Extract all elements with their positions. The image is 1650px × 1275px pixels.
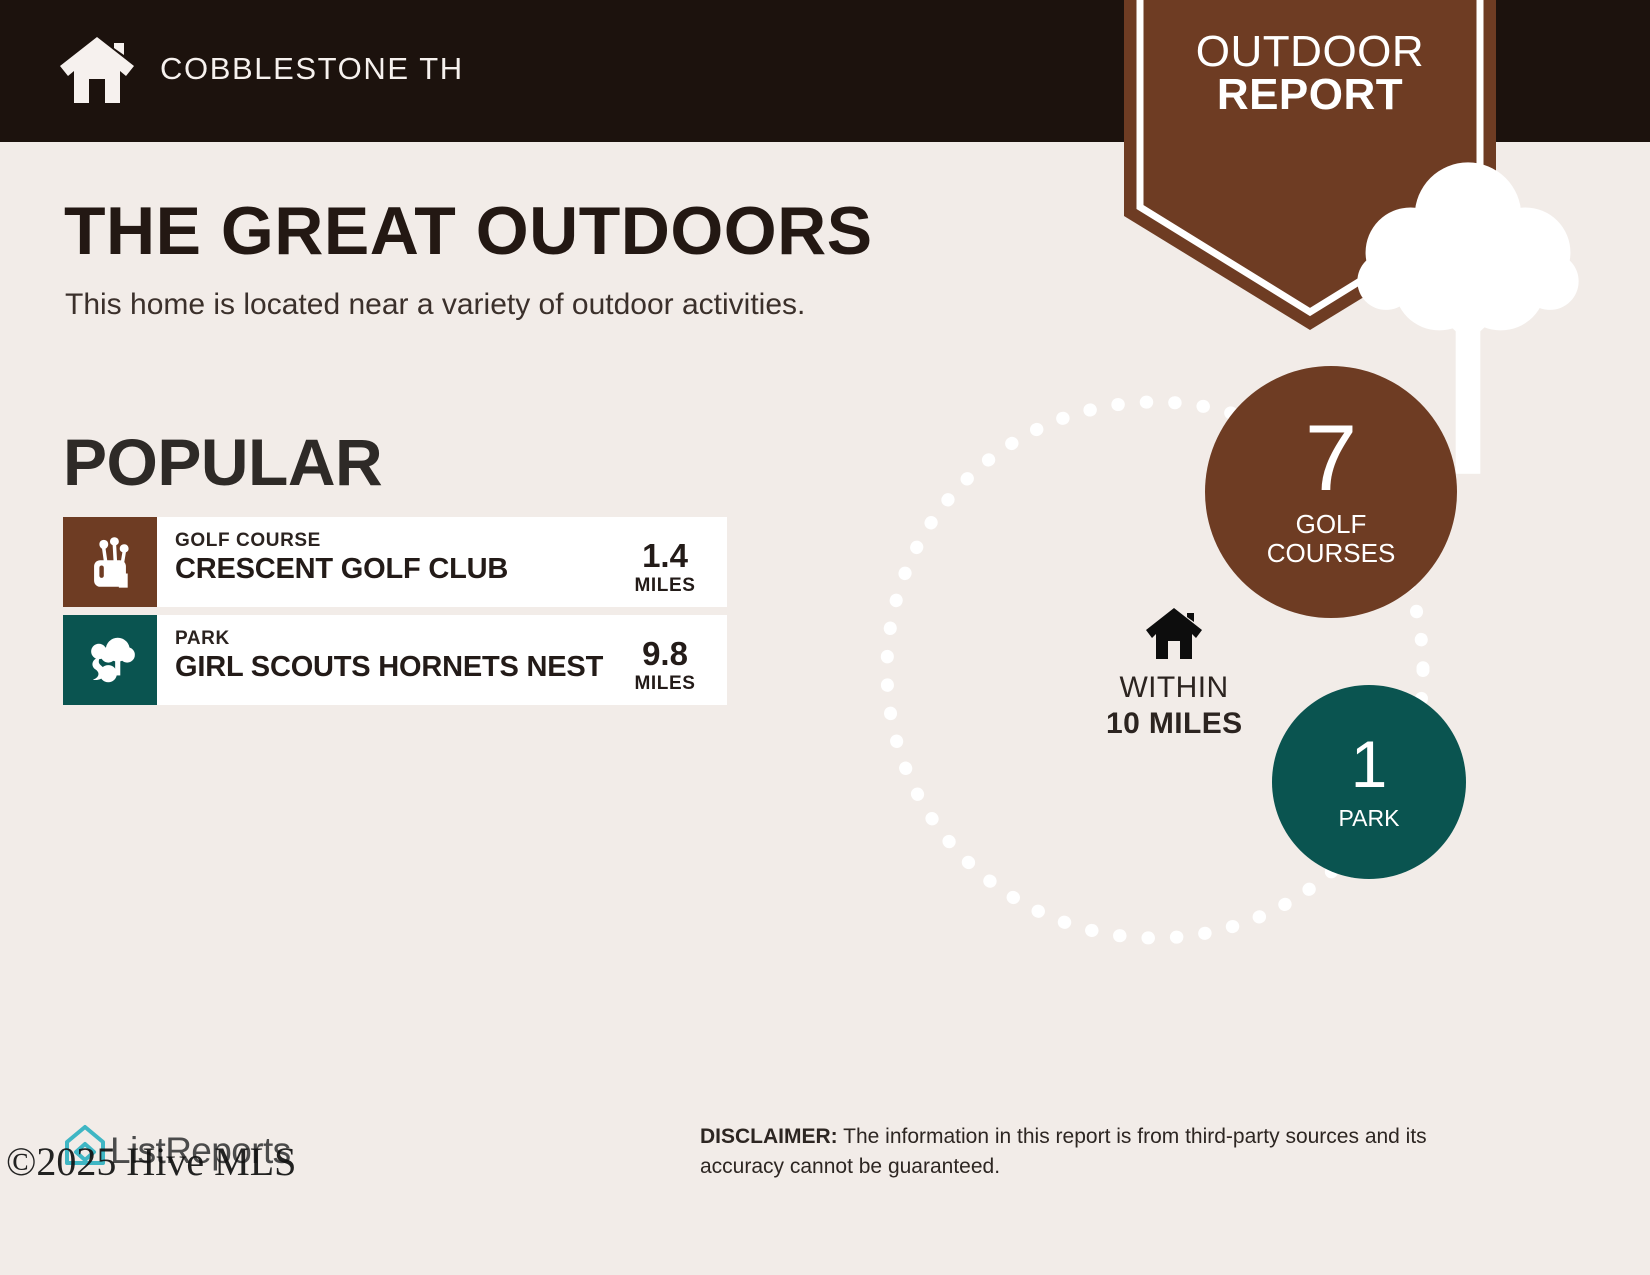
disclaimer: DISCLAIMER: The information in this repo… — [700, 1122, 1510, 1182]
stat-label-line2: COURSES — [1267, 539, 1396, 568]
tree-icon — [1282, 146, 1338, 228]
poi-body: GOLF COURSE CRESCENT GOLF CLUB — [157, 517, 609, 607]
poi-distance: 9.8 MILES — [609, 615, 727, 705]
stat-count: 1 — [1351, 736, 1388, 792]
list-item[interactable]: PARK GIRL SCOUTS HORNETS NEST 9.8 MILES — [63, 615, 727, 705]
poi-name: GIRL SCOUTS HORNETS NEST — [175, 652, 609, 683]
mls-watermark: ©2025 Hive MLS — [6, 1138, 296, 1185]
page-title: THE GREAT OUTDOORS — [64, 192, 873, 270]
home-icon — [58, 33, 136, 105]
radius-infographic: 7 GOLF COURSES 1 PARK WITHIN 10 MILES — [820, 360, 1520, 980]
radius-label-line2: 10 MILES — [1106, 707, 1242, 741]
poi-category: PARK — [175, 628, 609, 650]
poi-category: GOLF COURSE — [175, 530, 609, 552]
disclaimer-label: DISCLAIMER: — [700, 1125, 838, 1148]
poi-distance: 1.4 MILES — [609, 517, 727, 607]
stat-label: PARK — [1339, 805, 1400, 832]
poi-name: CRESCENT GOLF CLUB — [175, 554, 609, 585]
poi-body: PARK GIRL SCOUTS HORNETS NEST — [157, 615, 609, 705]
property-title: COBBLESTONE TH — [160, 51, 464, 87]
section-title-popular: POPULAR — [63, 424, 382, 500]
poi-distance-value: 9.8 — [609, 637, 721, 670]
stat-label: GOLF COURSES — [1267, 510, 1396, 567]
radius-center: WITHIN 10 MILES — [1106, 605, 1242, 741]
poi-distance-value: 1.4 — [609, 539, 721, 572]
popular-list: GOLF COURSE CRESCENT GOLF CLUB 1.4 MILES — [63, 517, 727, 713]
poi-distance-unit: MILES — [609, 575, 721, 597]
stat-label-line1: GOLF — [1267, 510, 1396, 539]
home-icon — [1144, 605, 1204, 661]
park-trees-icon — [85, 636, 135, 684]
radius-label-line1: WITHIN — [1106, 671, 1242, 705]
list-item[interactable]: GOLF COURSE CRESCENT GOLF CLUB 1.4 MILES — [63, 517, 727, 607]
poi-distance-unit: MILES — [609, 673, 721, 695]
stat-count: 7 — [1305, 419, 1357, 496]
stat-bubble-parks[interactable]: 1 PARK — [1272, 685, 1466, 879]
poi-icon-swatch — [63, 615, 157, 705]
outdoor-report-badge: OUTDOOR REPORT — [1124, 0, 1496, 330]
stat-bubble-golf-courses[interactable]: 7 GOLF COURSES — [1205, 366, 1457, 618]
golf-bag-icon — [87, 536, 133, 588]
page-subtitle: This home is located near a variety of o… — [65, 288, 805, 322]
poi-icon-swatch — [63, 517, 157, 607]
